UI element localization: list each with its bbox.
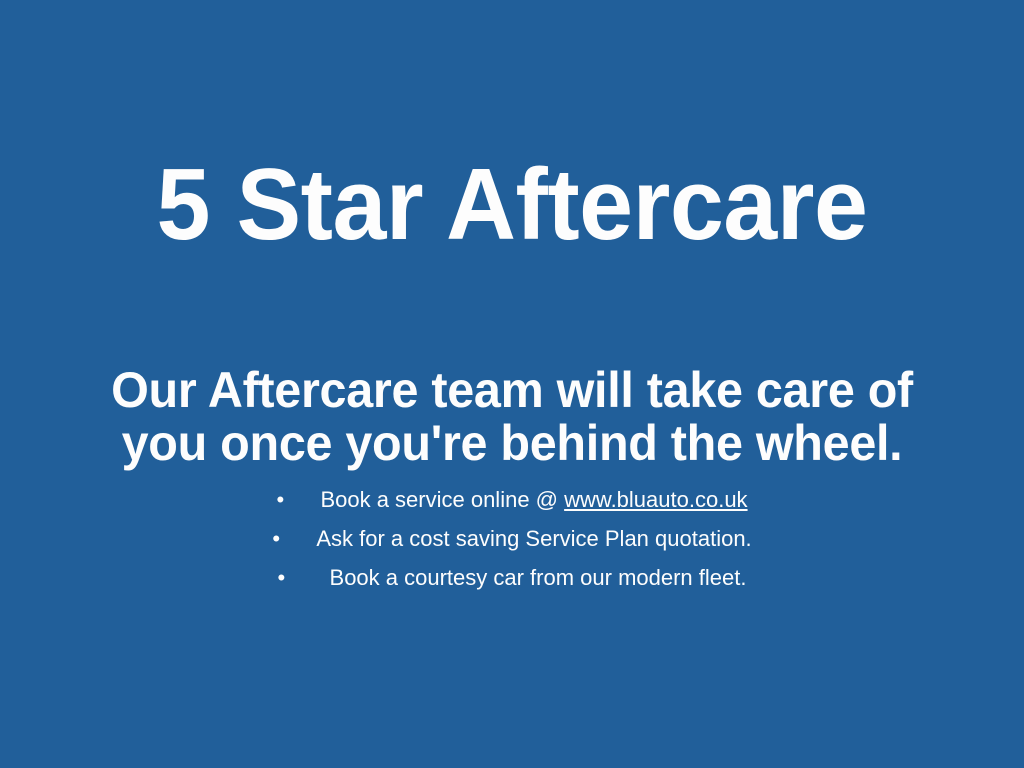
bullet-text-1-prefix: Book a service online @ xyxy=(320,487,564,512)
bullet-point-icon: • xyxy=(276,480,320,519)
bullet-point-icon: • xyxy=(278,558,330,597)
presentation-slide: 5 Star Aftercare Our Aftercare team will… xyxy=(0,0,1024,768)
bullet-text-2: Ask for a cost saving Service Plan quota… xyxy=(316,519,751,558)
subtitle-line-2: you once you're behind the wheel. xyxy=(15,417,1008,470)
list-item: • Ask for a cost saving Service Plan quo… xyxy=(0,519,1024,558)
bullet-point-icon: • xyxy=(272,519,316,558)
subtitle-line-1: Our Aftercare team will take care of xyxy=(15,364,1008,417)
title-block: 5 Star Aftercare xyxy=(0,152,1024,258)
list-item: • Book a service online @ www.bluauto.co… xyxy=(0,480,1024,519)
bullet-list: • Book a service online @ www.bluauto.co… xyxy=(0,480,1024,597)
bullet-text-3: Book a courtesy car from our modern flee… xyxy=(330,558,747,597)
bullet-text-1: Book a service online @ www.bluauto.co.u… xyxy=(320,480,747,519)
page-title: 5 Star Aftercare xyxy=(20,152,1003,258)
subtitle-block: Our Aftercare team will take care of you… xyxy=(0,364,1024,470)
list-item: • Book a courtesy car from our modern fl… xyxy=(0,558,1024,597)
bluauto-website-link[interactable]: www.bluauto.co.uk xyxy=(564,487,747,512)
